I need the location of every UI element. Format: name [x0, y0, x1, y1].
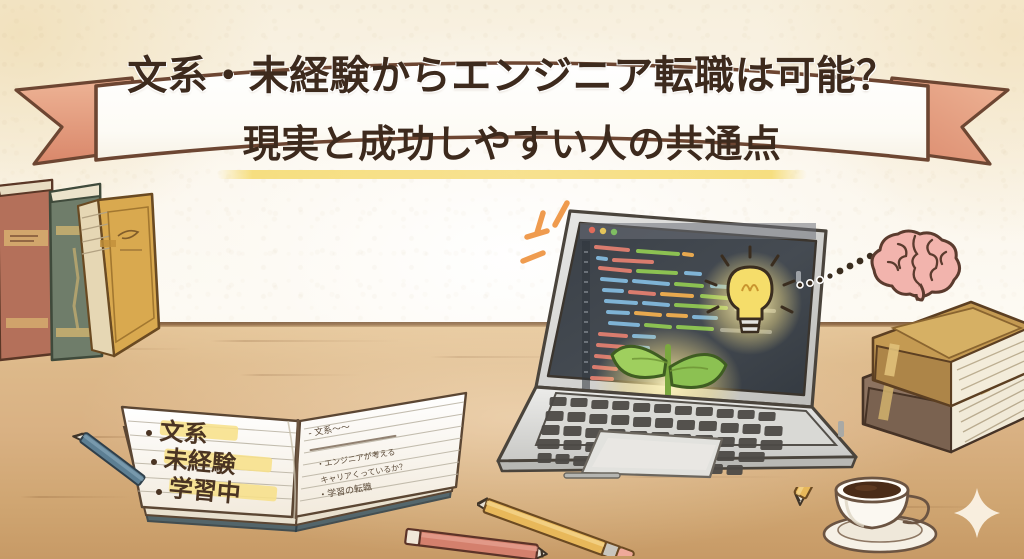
laptop: [440, 195, 860, 505]
pencil-yellow-right: [752, 487, 832, 559]
banner-title-group: 文系・未経験からエンジニア転職は可能？ 現実と成功しやすい人の共通点: [0, 28, 1024, 178]
brain-icon: [868, 218, 960, 298]
sparkle-icon: [954, 488, 1000, 542]
coffee-cup: [818, 452, 938, 552]
editor-gutter: [582, 241, 590, 391]
window-controls: [580, 223, 816, 239]
laptop-port: [838, 421, 844, 437]
books-left-group: [0, 178, 174, 360]
pencil-blue: [72, 428, 162, 502]
title-line-1: 文系・未経験からエンジニア転職は可能？: [0, 56, 1024, 96]
laptop-trackpad: [582, 431, 722, 477]
open-notebook: 文系 未経験 学習中 - 文系〜〜 ・エンジニアが考える キャリアくっているか？…: [120, 345, 480, 535]
laptop-front-latch: [564, 473, 620, 478]
banner-image: 文系・未経験からエンジニア転職は可能？ 現実と成功しやすい人の共通点: [0, 0, 1024, 559]
title-line-2: 現実と成功しやすい人の共通点: [0, 125, 1024, 163]
book-cover-gold: [78, 194, 159, 356]
title-underline-highlight: [217, 170, 807, 179]
book-spine-red: [0, 180, 54, 360]
notebook-item-3-text: 学習中: [168, 468, 243, 509]
pencil-yellow-center: [477, 496, 657, 559]
